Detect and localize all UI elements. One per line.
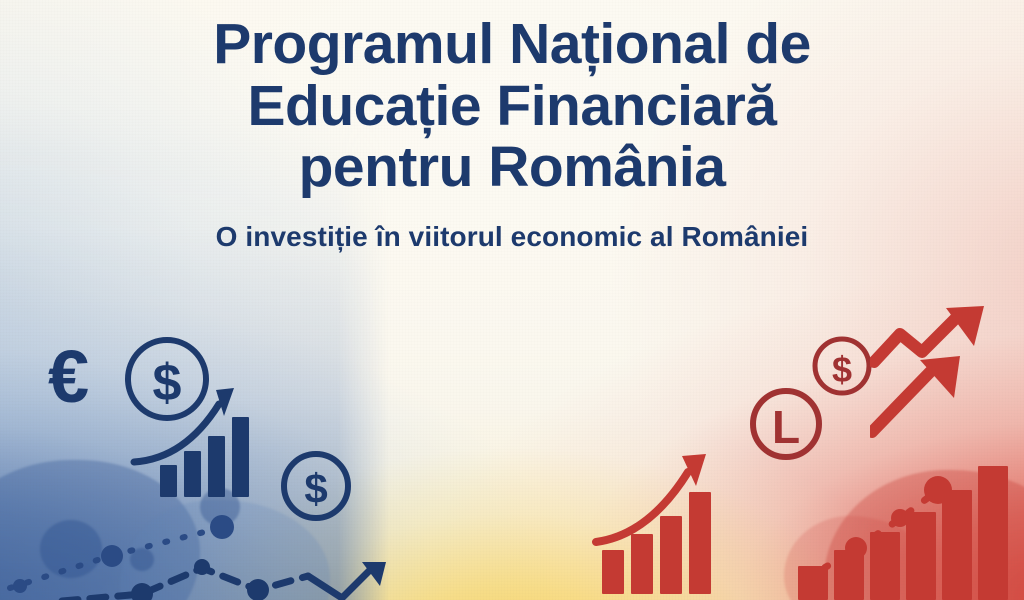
trend-node — [247, 579, 269, 600]
zigzag-up-arrow-icon — [874, 316, 958, 362]
trend-node — [194, 559, 210, 575]
page-subtitle: O investiție în viitorul economic al Rom… — [0, 221, 1024, 253]
page-title: Programul Național de Educație Financiar… — [0, 0, 1024, 199]
trend-node — [101, 545, 123, 567]
left-dotted-trend-lines — [0, 470, 430, 600]
zigzag-arrow-icon — [308, 568, 372, 598]
dashed-zigzag-line — [62, 568, 308, 600]
trend-node — [131, 583, 153, 600]
headline-line-1: Programul Național de — [0, 14, 1024, 76]
banner-text-block: Programul Național de Educație Financiar… — [0, 0, 1024, 253]
program-banner: € $ $ — [0, 0, 1024, 600]
euro-sign-icon: € — [48, 335, 89, 418]
headline-line-3: pentru România — [0, 137, 1024, 199]
svg-text:€: € — [48, 335, 89, 418]
trend-node — [13, 579, 27, 593]
bar-chart-red-large — [798, 466, 1008, 600]
right-red-bar-chart — [786, 420, 1024, 600]
dollar-coin-glyph: $ — [832, 349, 852, 390]
middle-red-growth-chart — [588, 424, 748, 600]
trend-node — [210, 515, 234, 539]
dollar-coin-glyph: $ — [153, 354, 182, 412]
headline-line-2: Educație Financiară — [0, 76, 1024, 138]
